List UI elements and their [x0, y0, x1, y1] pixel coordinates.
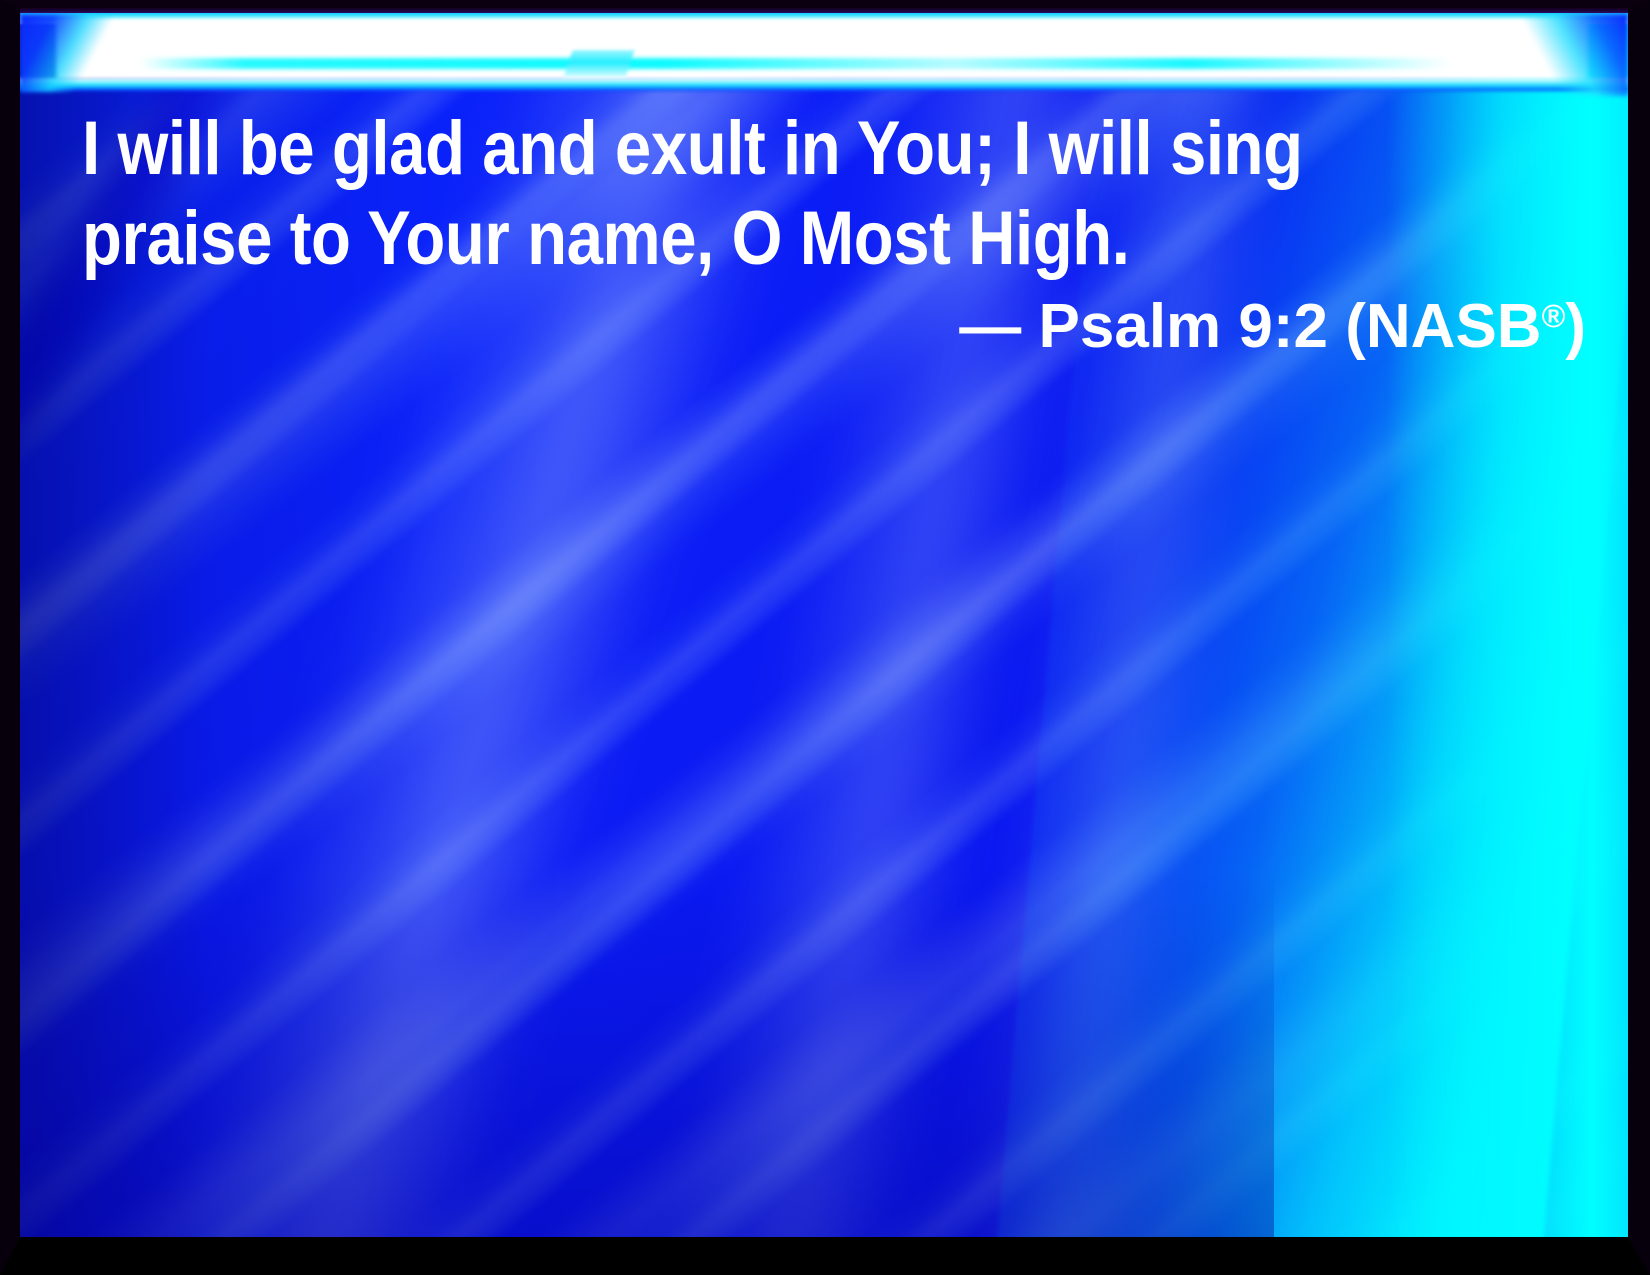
- attribution-translation-close: ): [1565, 292, 1586, 361]
- slide-artwork: I will be glad and exult in You; I will …: [20, 8, 1628, 1237]
- attribution-translation-open: (NASB: [1345, 292, 1541, 361]
- verse-text-block: I will be glad and exult in You; I will …: [82, 104, 1588, 370]
- glow-right-wedge: [1524, 14, 1628, 96]
- glow-left-wedge: [20, 14, 112, 92]
- background-bottom-vignette: [20, 868, 1274, 1237]
- glow-cyan-notch: [563, 50, 634, 78]
- verse-line-2: praise to Your name, O Most High.: [82, 194, 1377, 284]
- attribution-dash: —: [959, 292, 1021, 361]
- registered-trademark-icon: ®: [1542, 298, 1566, 334]
- verse-slide: I will be glad and exult in You; I will …: [0, 0, 1650, 1275]
- top-glow-band: [20, 8, 1628, 92]
- glow-cyan-stripe: [140, 58, 1452, 69]
- attribution-reference: Psalm 9:2: [1039, 292, 1329, 361]
- verse-attribution: — Psalm 9:2 (NASB®): [82, 284, 1588, 370]
- verse-line-1: I will be glad and exult in You; I will …: [82, 104, 1377, 194]
- glow-frame-top-line: [20, 8, 1628, 13]
- glow-bottom-edge: [20, 78, 1628, 92]
- slide-frame: I will be glad and exult in You; I will …: [0, 0, 1650, 1275]
